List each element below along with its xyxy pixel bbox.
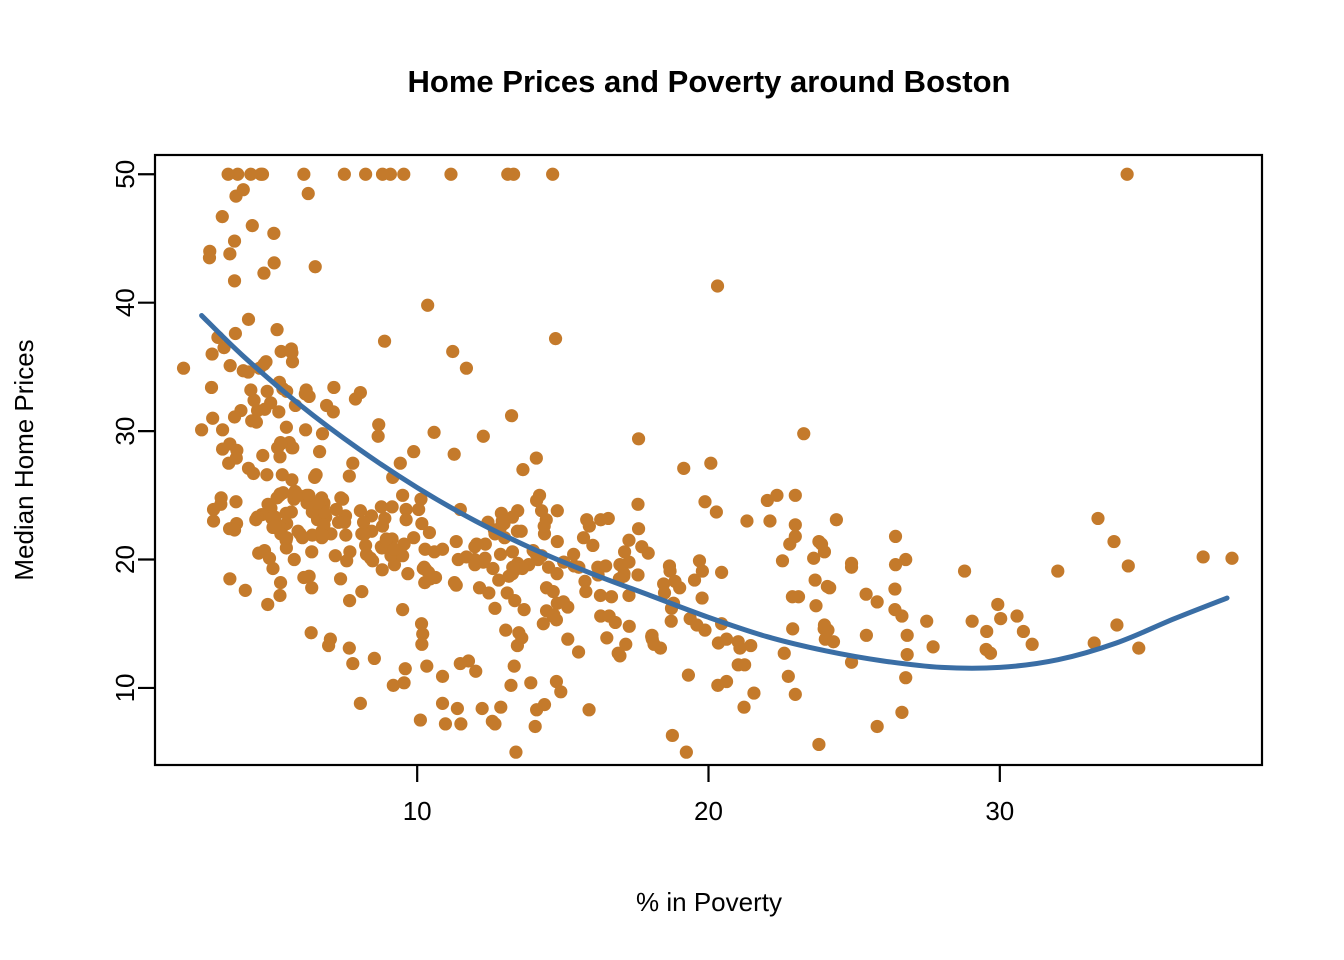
data-point [399, 662, 412, 675]
y-tick-label: 20 [110, 545, 140, 574]
plot-background [0, 0, 1344, 960]
data-point [422, 566, 435, 579]
data-point [386, 500, 399, 513]
data-point [394, 457, 407, 470]
data-point [302, 187, 315, 200]
data-point [397, 676, 410, 689]
data-point [246, 219, 259, 232]
data-point [551, 535, 564, 548]
data-point [889, 530, 902, 543]
scatter-plot-svg: Home Prices and Poverty around Boston % … [0, 0, 1344, 960]
data-point [540, 581, 553, 594]
data-point [359, 539, 372, 552]
data-point [339, 529, 352, 542]
data-point [228, 274, 241, 287]
data-point [334, 491, 347, 504]
data-point [207, 514, 220, 527]
data-point [222, 168, 235, 181]
data-point [239, 584, 252, 597]
data-point [270, 323, 283, 336]
data-point [889, 558, 902, 571]
data-point [1026, 638, 1039, 651]
data-point [809, 573, 822, 586]
data-point [267, 227, 280, 240]
data-point [551, 504, 564, 517]
data-point [618, 545, 631, 558]
data-point [1010, 609, 1023, 622]
data-point [322, 639, 335, 652]
data-point [357, 516, 370, 529]
data-point [423, 526, 436, 539]
data-point [1051, 564, 1064, 577]
data-point [177, 362, 190, 375]
data-point [320, 399, 333, 412]
data-point [274, 576, 287, 589]
data-point [550, 613, 563, 626]
data-point [206, 412, 219, 425]
data-point [980, 625, 993, 638]
data-point [580, 513, 593, 526]
data-point [249, 513, 262, 526]
data-point [499, 624, 512, 637]
data-point [376, 563, 389, 576]
data-point [415, 638, 428, 651]
data-point [285, 346, 298, 359]
data-point [770, 489, 783, 502]
data-point [812, 738, 825, 751]
data-point [346, 457, 359, 470]
data-point [600, 631, 613, 644]
data-point [538, 520, 551, 533]
data-point [895, 706, 908, 719]
data-point [1017, 625, 1030, 638]
data-point [631, 498, 644, 511]
data-point [396, 603, 409, 616]
data-point [529, 720, 542, 733]
data-point [1132, 642, 1145, 655]
data-point [778, 647, 791, 660]
data-point [388, 543, 401, 556]
data-point [696, 564, 709, 577]
data-point [632, 522, 645, 535]
data-point [524, 676, 537, 689]
data-point [586, 539, 599, 552]
data-point [436, 697, 449, 710]
data-point [349, 392, 362, 405]
data-point [268, 520, 281, 533]
data-point [376, 168, 389, 181]
data-point [888, 603, 901, 616]
data-point [420, 660, 433, 673]
data-point [554, 685, 567, 698]
data-point [205, 381, 218, 394]
data-point [343, 594, 356, 607]
data-point [334, 572, 347, 585]
data-point [460, 362, 473, 375]
data-point [407, 445, 420, 458]
data-point [711, 279, 724, 292]
data-point [216, 423, 229, 436]
data-point [682, 669, 695, 682]
data-point [263, 552, 276, 565]
data-point [340, 554, 353, 567]
data-point [228, 523, 241, 536]
data-point [242, 313, 255, 326]
data-point [704, 457, 717, 470]
data-point [260, 468, 273, 481]
data-point [206, 347, 219, 360]
data-point [488, 602, 501, 615]
y-tick-label: 10 [110, 673, 140, 702]
data-point [511, 525, 524, 538]
data-point [468, 558, 481, 571]
data-point [302, 489, 315, 502]
data-point [223, 247, 236, 260]
data-point [677, 462, 690, 475]
x-tick-label: 20 [694, 796, 723, 826]
data-point [506, 561, 519, 574]
data-point [710, 505, 723, 518]
data-point [899, 671, 912, 684]
data-point [695, 591, 708, 604]
data-point [273, 450, 286, 463]
data-point [452, 553, 465, 566]
data-point [223, 572, 236, 585]
data-point [280, 421, 293, 434]
data-point [454, 657, 467, 670]
data-point [436, 670, 449, 683]
data-point [308, 471, 321, 484]
data-point [274, 437, 287, 450]
data-point [635, 540, 648, 553]
data-point [488, 717, 501, 730]
data-point [561, 633, 574, 646]
x-tick-label: 30 [985, 796, 1014, 826]
data-point [228, 410, 241, 423]
data-point [230, 451, 243, 464]
data-point [330, 503, 343, 516]
data-point [860, 629, 873, 642]
data-point [412, 503, 425, 516]
data-point [530, 451, 543, 464]
data-point [380, 532, 393, 545]
data-point [296, 531, 309, 544]
data-point [451, 702, 464, 715]
data-point [737, 701, 750, 714]
data-point [354, 697, 367, 710]
data-point [1110, 618, 1123, 631]
data-point [1225, 552, 1238, 565]
data-point [250, 416, 263, 429]
data-point [680, 746, 693, 759]
data-point [631, 568, 644, 581]
data-point [984, 647, 997, 660]
data-point [666, 729, 679, 742]
data-point [747, 686, 760, 699]
data-point [216, 210, 229, 223]
data-point [786, 590, 799, 603]
data-point [264, 396, 277, 409]
data-point [572, 645, 585, 658]
data-point [244, 168, 257, 181]
data-point [715, 566, 728, 579]
data-point [229, 327, 242, 340]
data-point [397, 168, 410, 181]
data-point [470, 538, 483, 551]
data-point [396, 489, 409, 502]
data-point [270, 491, 283, 504]
data-point [436, 543, 449, 556]
data-point [505, 409, 518, 422]
data-point [530, 494, 543, 507]
data-point [216, 442, 229, 455]
data-point [297, 168, 310, 181]
data-point [1091, 512, 1104, 525]
x-tick-label: 10 [403, 796, 432, 826]
data-point [991, 598, 1004, 611]
data-point [927, 640, 940, 653]
data-point [242, 462, 255, 475]
data-point [355, 585, 368, 598]
data-point [305, 545, 318, 558]
data-point [509, 746, 522, 759]
data-point [414, 713, 427, 726]
data-point [448, 448, 461, 461]
data-point [477, 430, 490, 443]
data-point [280, 531, 293, 544]
data-point [786, 622, 799, 635]
data-point [789, 489, 802, 502]
data-point [273, 589, 286, 602]
data-point [827, 635, 840, 648]
data-point [486, 562, 499, 575]
data-point [665, 615, 678, 628]
data-point [958, 564, 971, 577]
data-point [920, 615, 933, 628]
data-point [261, 385, 274, 398]
data-point [439, 717, 452, 730]
data-point [229, 495, 242, 508]
data-point [372, 418, 385, 431]
data-point [400, 513, 413, 526]
data-point [871, 720, 884, 733]
data-point [623, 620, 636, 633]
y-axis-label: Median Home Prices [9, 339, 39, 580]
data-point [276, 468, 289, 481]
data-point [698, 495, 711, 508]
data-point [632, 432, 645, 445]
data-point [1197, 550, 1210, 563]
data-point [378, 512, 391, 525]
data-point [789, 688, 802, 701]
data-point [427, 426, 440, 439]
data-point [613, 649, 626, 662]
data-point [740, 514, 753, 527]
data-point [288, 553, 301, 566]
data-point [446, 345, 459, 358]
data-point [720, 675, 733, 688]
data-point [494, 548, 507, 561]
data-point [215, 491, 228, 504]
data-point [316, 529, 329, 542]
data-point [690, 618, 703, 631]
data-point [966, 615, 979, 628]
data-point [494, 701, 507, 714]
data-point [860, 588, 873, 601]
data-point [224, 359, 237, 372]
data-point [444, 168, 457, 181]
data-point [720, 633, 733, 646]
data-point [482, 586, 495, 599]
data-point [372, 430, 385, 443]
data-point [299, 423, 312, 436]
page-title: Home Prices and Poverty around Boston [408, 64, 1011, 99]
data-point [309, 260, 322, 273]
data-point [738, 658, 751, 671]
data-point [305, 581, 318, 594]
data-point [647, 638, 660, 651]
data-point [338, 168, 351, 181]
data-point [496, 514, 509, 527]
data-point [261, 598, 274, 611]
data-point [542, 561, 555, 574]
data-point [454, 717, 467, 730]
data-point [358, 527, 371, 540]
data-point [401, 567, 414, 580]
data-point [378, 335, 391, 348]
data-point [823, 581, 836, 594]
y-tick-label: 40 [110, 288, 140, 317]
x-axis-label: % in Poverty [636, 887, 782, 917]
data-point [508, 594, 521, 607]
data-point [501, 168, 514, 181]
data-point [256, 168, 269, 181]
data-point [195, 423, 208, 436]
data-point [508, 660, 521, 673]
data-point [286, 441, 299, 454]
data-point [1121, 168, 1134, 181]
data-point [364, 552, 377, 565]
data-point [203, 251, 216, 264]
y-tick-label: 30 [110, 417, 140, 446]
data-point [797, 427, 810, 440]
data-point [332, 516, 345, 529]
data-point [516, 463, 529, 476]
data-point [782, 670, 795, 683]
data-point [609, 616, 622, 629]
data-point [582, 703, 595, 716]
data-point [594, 513, 607, 526]
data-point [244, 383, 257, 396]
data-point [268, 256, 281, 269]
y-tick-label: 50 [110, 160, 140, 189]
data-point [537, 617, 550, 630]
data-point [845, 557, 858, 570]
data-point [594, 589, 607, 602]
data-point [343, 469, 356, 482]
data-point [888, 582, 901, 595]
data-point [789, 518, 802, 531]
data-point [1122, 559, 1135, 572]
data-point [359, 168, 372, 181]
data-point [830, 513, 843, 526]
data-point [329, 549, 342, 562]
data-point [776, 554, 789, 567]
data-point [818, 618, 831, 631]
data-point [343, 642, 356, 655]
data-point [901, 629, 914, 642]
data-point [668, 575, 681, 588]
data-point [789, 530, 802, 543]
data-point [450, 535, 463, 548]
data-point [763, 514, 776, 527]
data-point [815, 538, 828, 551]
data-point [354, 504, 367, 517]
data-point [504, 679, 517, 692]
data-point [901, 648, 914, 661]
data-point [285, 505, 298, 518]
data-point [622, 534, 635, 547]
data-point [313, 445, 326, 458]
data-point [327, 381, 340, 394]
data-point [744, 639, 757, 652]
chart-figure: Home Prices and Poverty around Boston % … [0, 0, 1344, 960]
data-point [538, 698, 551, 711]
data-point [871, 595, 884, 608]
data-point [549, 332, 562, 345]
data-point [305, 626, 318, 639]
data-point [303, 390, 316, 403]
data-point [476, 702, 489, 715]
data-point [368, 652, 381, 665]
data-point [994, 612, 1007, 625]
data-point [257, 267, 270, 280]
data-point [579, 585, 592, 598]
data-point [557, 595, 570, 608]
data-point [512, 626, 525, 639]
data-point [506, 545, 519, 558]
data-point [407, 531, 420, 544]
data-point [256, 449, 269, 462]
data-point [228, 234, 241, 247]
data-point [809, 599, 822, 612]
data-point [1107, 535, 1120, 548]
data-point [450, 579, 463, 592]
data-point [511, 504, 524, 517]
data-point [421, 299, 434, 312]
data-point [546, 168, 559, 181]
data-point [346, 657, 359, 670]
data-point [207, 503, 220, 516]
data-point [237, 183, 250, 196]
